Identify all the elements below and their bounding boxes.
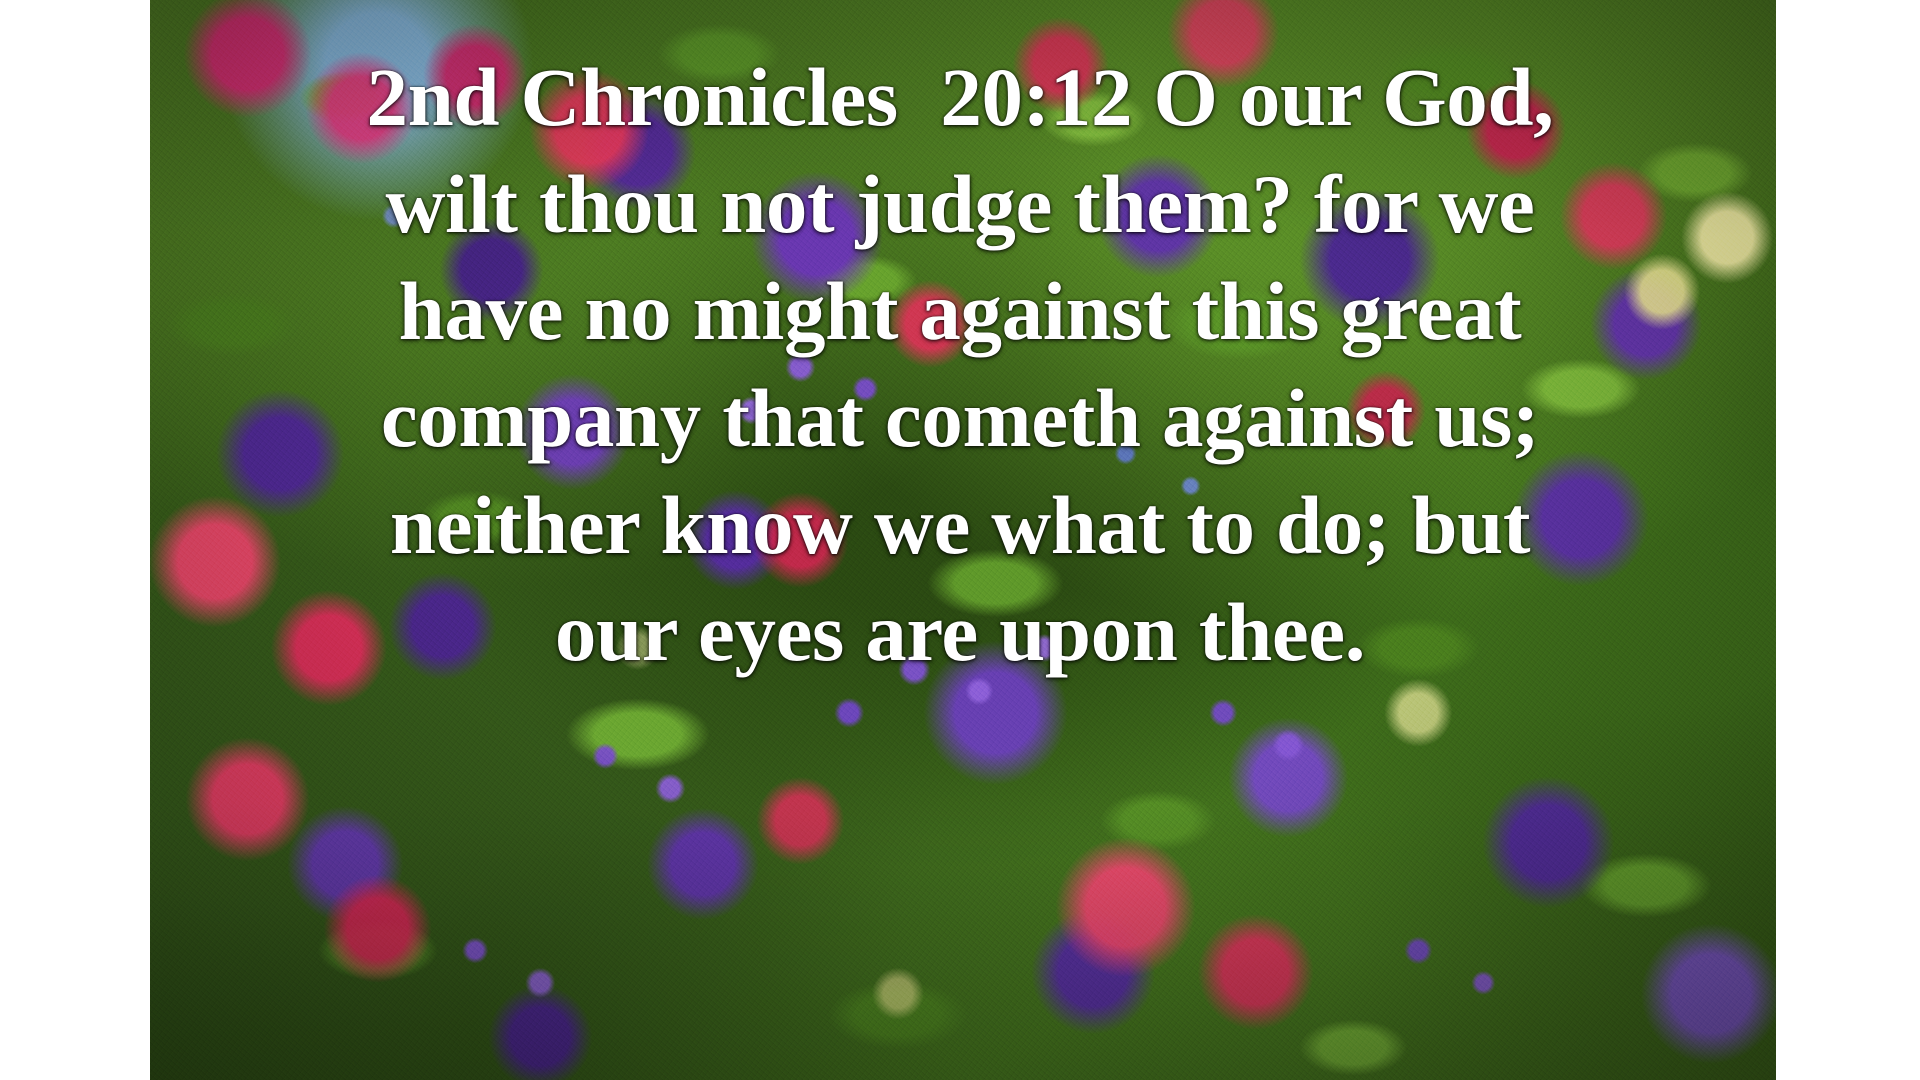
verse-text-block: 2nd Chronicles 20:12 O our God, wilt tho…: [180, 44, 1740, 686]
verse-line-4: company that cometh against us;: [180, 365, 1740, 472]
verse-line-1: 2nd Chronicles 20:12 O our God,: [180, 44, 1740, 151]
verse-line-5: neither know we what to do; but: [180, 472, 1740, 579]
verse-line-3: have no might against this great: [180, 258, 1740, 365]
verse-overlay: 2nd Chronicles 20:12 O our God, wilt tho…: [180, 44, 1740, 686]
verse-line-2: wilt thou not judge them? for we: [180, 151, 1740, 258]
scripture-slide: 2nd Chronicles 20:12 O our God, wilt tho…: [0, 0, 1920, 1080]
verse-line-6: our eyes are upon thee.: [180, 579, 1740, 686]
